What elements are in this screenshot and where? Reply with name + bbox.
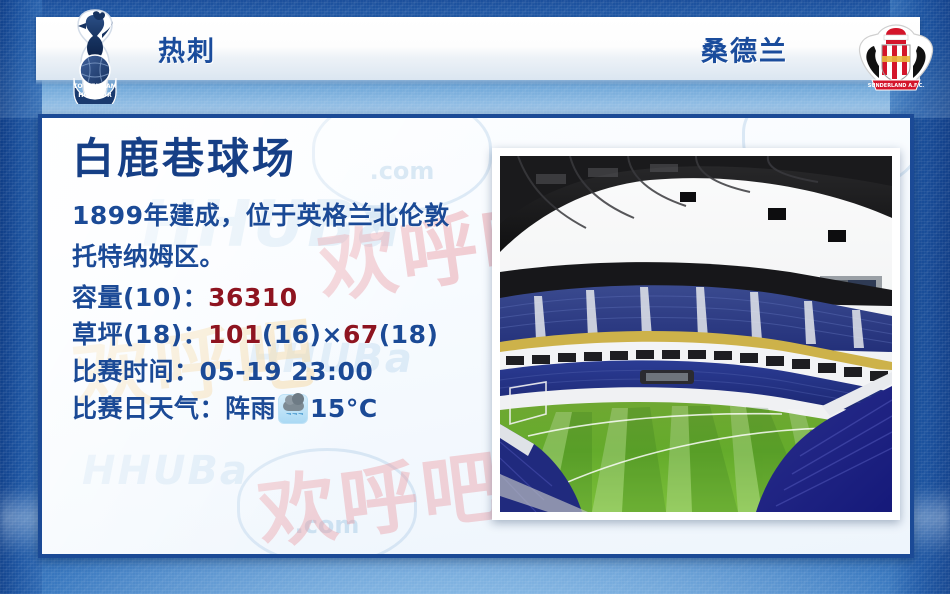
- svg-text:SUNDERLAND A.F.C.: SUNDERLAND A.F.C.: [868, 83, 925, 89]
- pitch-row: 草坪(18)： 101 (16) × 67 (18): [72, 316, 502, 353]
- pitch-width-note: (18): [379, 316, 439, 353]
- watermark-brand-cn-2: 欢呼吧: [251, 423, 509, 558]
- stadium-title: 白鹿巷球场: [72, 136, 502, 182]
- pitch-width-value: 67: [343, 316, 379, 353]
- rain-cloud-icon: [278, 394, 308, 424]
- svg-text:TOTTENHAM: TOTTENHAM: [73, 83, 117, 90]
- watermark-speech-bubble-3: .com: [237, 448, 417, 558]
- watermark-latin-brand-3: HHUBa: [82, 448, 249, 494]
- stadium-photo-frame: [492, 148, 900, 520]
- pitch-label: 草坪(18)：: [72, 316, 208, 353]
- weather-row: 比赛日天气： 阵雨 15°C: [72, 390, 502, 427]
- match-header-bar: 热刺 桑德兰: [36, 17, 920, 80]
- stadium-description-line1: 1899年建成，位于英格兰北伦敦: [72, 198, 502, 235]
- tottenham-hotspur-crest: TOTTENHAM HOTSPUR: [60, 8, 130, 104]
- home-team-name: 热刺: [158, 30, 216, 69]
- stadium-info-card: .com .com .com HHUBa HHUBa HHUBa 欢呼吧 欢呼吧…: [38, 114, 914, 558]
- pitch-length-note: (16): [262, 316, 322, 353]
- stadium-photo: [500, 156, 892, 512]
- sunderland-afc-crest: SUNDERLAND A.F.C.: [854, 22, 938, 94]
- pitch-separator: ×: [322, 316, 343, 353]
- match-time-value: 05-19 23:00: [200, 353, 374, 390]
- weather-label: 比赛日天气：: [72, 390, 225, 427]
- away-team-name: 桑德兰: [701, 30, 788, 69]
- match-time-label: 比赛时间：: [72, 353, 200, 390]
- svg-text:HOTSPUR: HOTSPUR: [78, 92, 112, 99]
- capacity-value: 36310: [208, 279, 297, 316]
- temperature-value: 15°C: [310, 390, 378, 427]
- watermark-dotcom-text-3: .com: [295, 511, 360, 539]
- pitch-length-value: 101: [208, 316, 262, 353]
- weather-text: 阵雨: [225, 390, 276, 427]
- match-time-row: 比赛时间： 05-19 23:00: [72, 353, 502, 390]
- stadium-info-block: 白鹿巷球场 1899年建成，位于英格兰北伦敦 托特纳姆区。 容量(10)： 36…: [72, 136, 502, 427]
- capacity-label: 容量(10)：: [72, 279, 208, 316]
- capacity-row: 容量(10)： 36310: [72, 279, 502, 316]
- stadium-description-line2: 托特纳姆区。: [72, 239, 502, 276]
